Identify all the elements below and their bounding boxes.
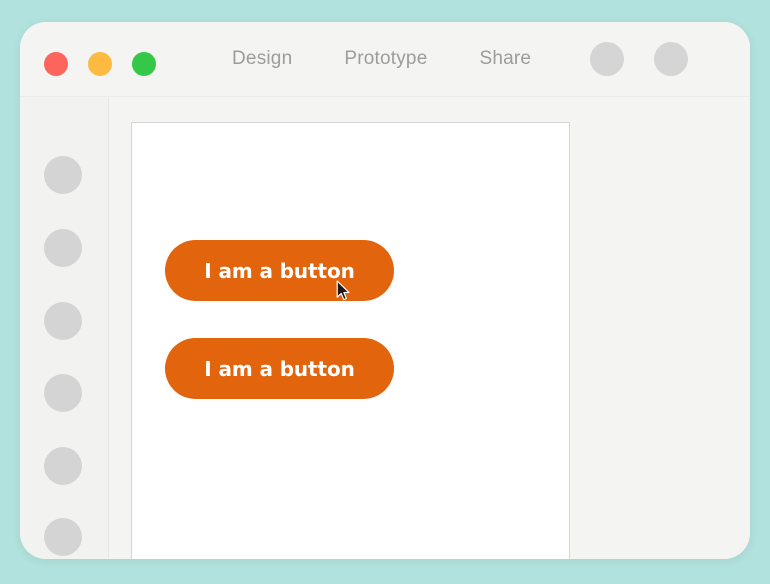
pill-button-secondary[interactable]: I am a button	[165, 338, 394, 399]
sidebar-item-1[interactable]	[44, 156, 82, 194]
tab-design[interactable]: Design	[232, 48, 292, 70]
avatar-group	[590, 22, 688, 96]
sidebar-item-6[interactable]	[44, 518, 82, 556]
sidebar-item-2[interactable]	[44, 229, 82, 267]
tab-share[interactable]: Share	[479, 48, 531, 70]
artboard[interactable]: I am a button I am a button	[132, 123, 569, 559]
pill-button-primary[interactable]: I am a button	[165, 240, 394, 301]
sidebar-item-5[interactable]	[44, 447, 82, 485]
traffic-light-group	[44, 52, 156, 76]
avatar[interactable]	[654, 42, 688, 76]
sidebar-item-4[interactable]	[44, 374, 82, 412]
maximize-window-button[interactable]	[132, 52, 156, 76]
sidebar-item-3[interactable]	[44, 302, 82, 340]
minimize-window-button[interactable]	[88, 52, 112, 76]
tab-prototype[interactable]: Prototype	[344, 48, 427, 70]
canvas-area[interactable]: I am a button I am a button	[109, 97, 750, 559]
app-window: Design Prototype Share I am a button I a…	[20, 22, 750, 559]
nav-tabs: Design Prototype Share	[232, 22, 531, 96]
close-window-button[interactable]	[44, 52, 68, 76]
avatar[interactable]	[590, 42, 624, 76]
title-bar: Design Prototype Share	[20, 22, 750, 97]
sidebar	[20, 97, 109, 559]
